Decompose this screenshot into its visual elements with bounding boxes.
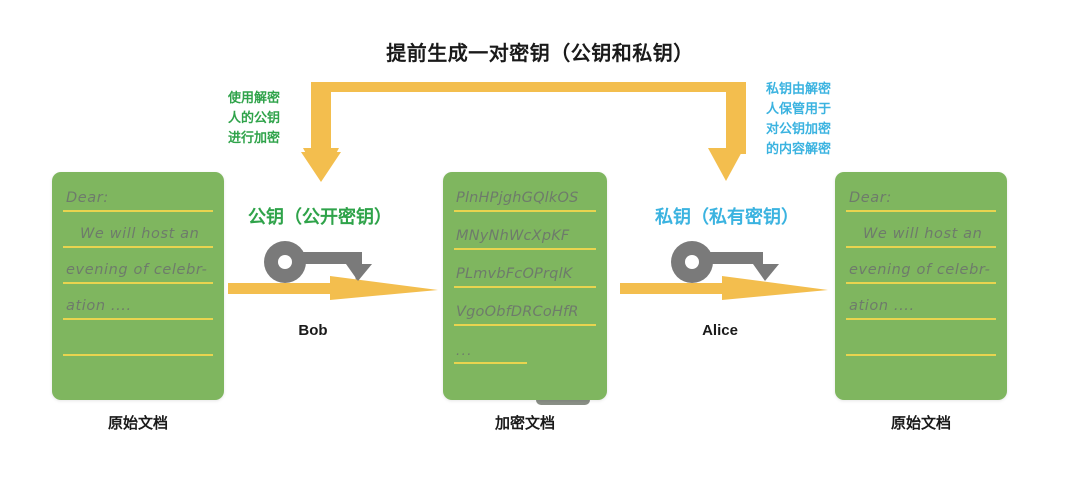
annotation-right-decrypt: 私钥由解密 人保管用于 对公钥加密 的内容解密: [766, 79, 831, 159]
ruled-line: [454, 362, 527, 364]
key-icon-public: [264, 241, 372, 283]
annotation-left-line-2: 人的公钥: [228, 108, 280, 128]
annotation-right-line-4: 的内容解密: [766, 139, 831, 159]
ruled-lines-left: [52, 172, 224, 400]
key-distribution-arrow-left: [301, 82, 530, 182]
ruled-line: [454, 210, 596, 212]
cipher-line: PLmvbFcOPrqlK: [456, 266, 599, 282]
caption-original-right: 原始文档: [835, 412, 1007, 433]
ruled-line: [454, 248, 596, 250]
ruled-lines-right: [835, 172, 1007, 400]
ruled-line: [63, 282, 213, 284]
cipher-line: MNyNhWcXpKF: [456, 228, 599, 244]
document-line: We will host an: [66, 226, 214, 242]
document-line: ation ....: [66, 298, 214, 314]
document-line: We will host an: [849, 226, 997, 242]
diagram-canvas: 提前生成一对密钥（公钥和私钥） 使用解密 人的公钥 进行加密 私钥由解密 人保管…: [0, 0, 1080, 485]
ruled-line: [63, 210, 213, 212]
caption-encrypted: 加密文档: [443, 412, 607, 433]
document-line: evening of celebr-: [849, 262, 997, 278]
ruled-line: [846, 318, 996, 320]
ruled-line: [846, 282, 996, 284]
person-label-alice: Alice: [665, 322, 775, 339]
document-line: Dear:: [66, 190, 214, 206]
key-distribution-arrow-right: [528, 82, 746, 181]
cipher-line: VgoObfDRCoHfR: [456, 304, 599, 320]
ruled-line: [454, 324, 596, 326]
annotation-left-encrypt: 使用解密 人的公钥 进行加密: [228, 88, 280, 148]
document-card-encrypted: PlnHPjghGQlkOS MNyNhWcXpKF PLmvbFcOPrqlK…: [443, 172, 607, 400]
page-title: 提前生成一对密钥（公钥和私钥）: [0, 37, 1080, 66]
annotation-left-line-3: 进行加密: [228, 128, 280, 148]
decrypt-flow-arrow: [620, 276, 828, 300]
annotation-left-line-1: 使用解密: [228, 88, 280, 108]
ruled-line: [846, 246, 996, 248]
annotation-right-line-1: 私钥由解密: [766, 79, 831, 99]
ruled-line: [63, 354, 213, 356]
annotation-right-line-3: 对公钥加密: [766, 119, 831, 139]
document-card-original-right: Dear: We will host an evening of celebr-…: [835, 172, 1007, 400]
document-line: evening of celebr-: [66, 262, 214, 278]
annotation-right-line-2: 人保管用于: [766, 99, 831, 119]
ruled-line: [846, 210, 996, 212]
ruled-line: [454, 286, 596, 288]
ruled-line: [846, 354, 996, 356]
document-line: Dear:: [849, 190, 997, 206]
cipher-line: PlnHPjghGQlkOS: [456, 190, 599, 206]
ruled-line: [63, 318, 213, 320]
encrypt-flow-arrow: [228, 276, 438, 300]
ruled-lines-middle: [443, 172, 607, 400]
document-card-original-left: Dear: We will host an evening of celebr-…: [52, 172, 224, 400]
document-line: ation ....: [849, 298, 997, 314]
private-key-label: 私钥（私有密钥）: [655, 203, 799, 229]
ruled-line: [63, 246, 213, 248]
public-key-label: 公钥（公开密钥）: [248, 203, 392, 229]
caption-original-left: 原始文档: [52, 412, 224, 433]
cipher-line: ...: [456, 344, 599, 359]
person-label-bob: Bob: [258, 322, 368, 339]
